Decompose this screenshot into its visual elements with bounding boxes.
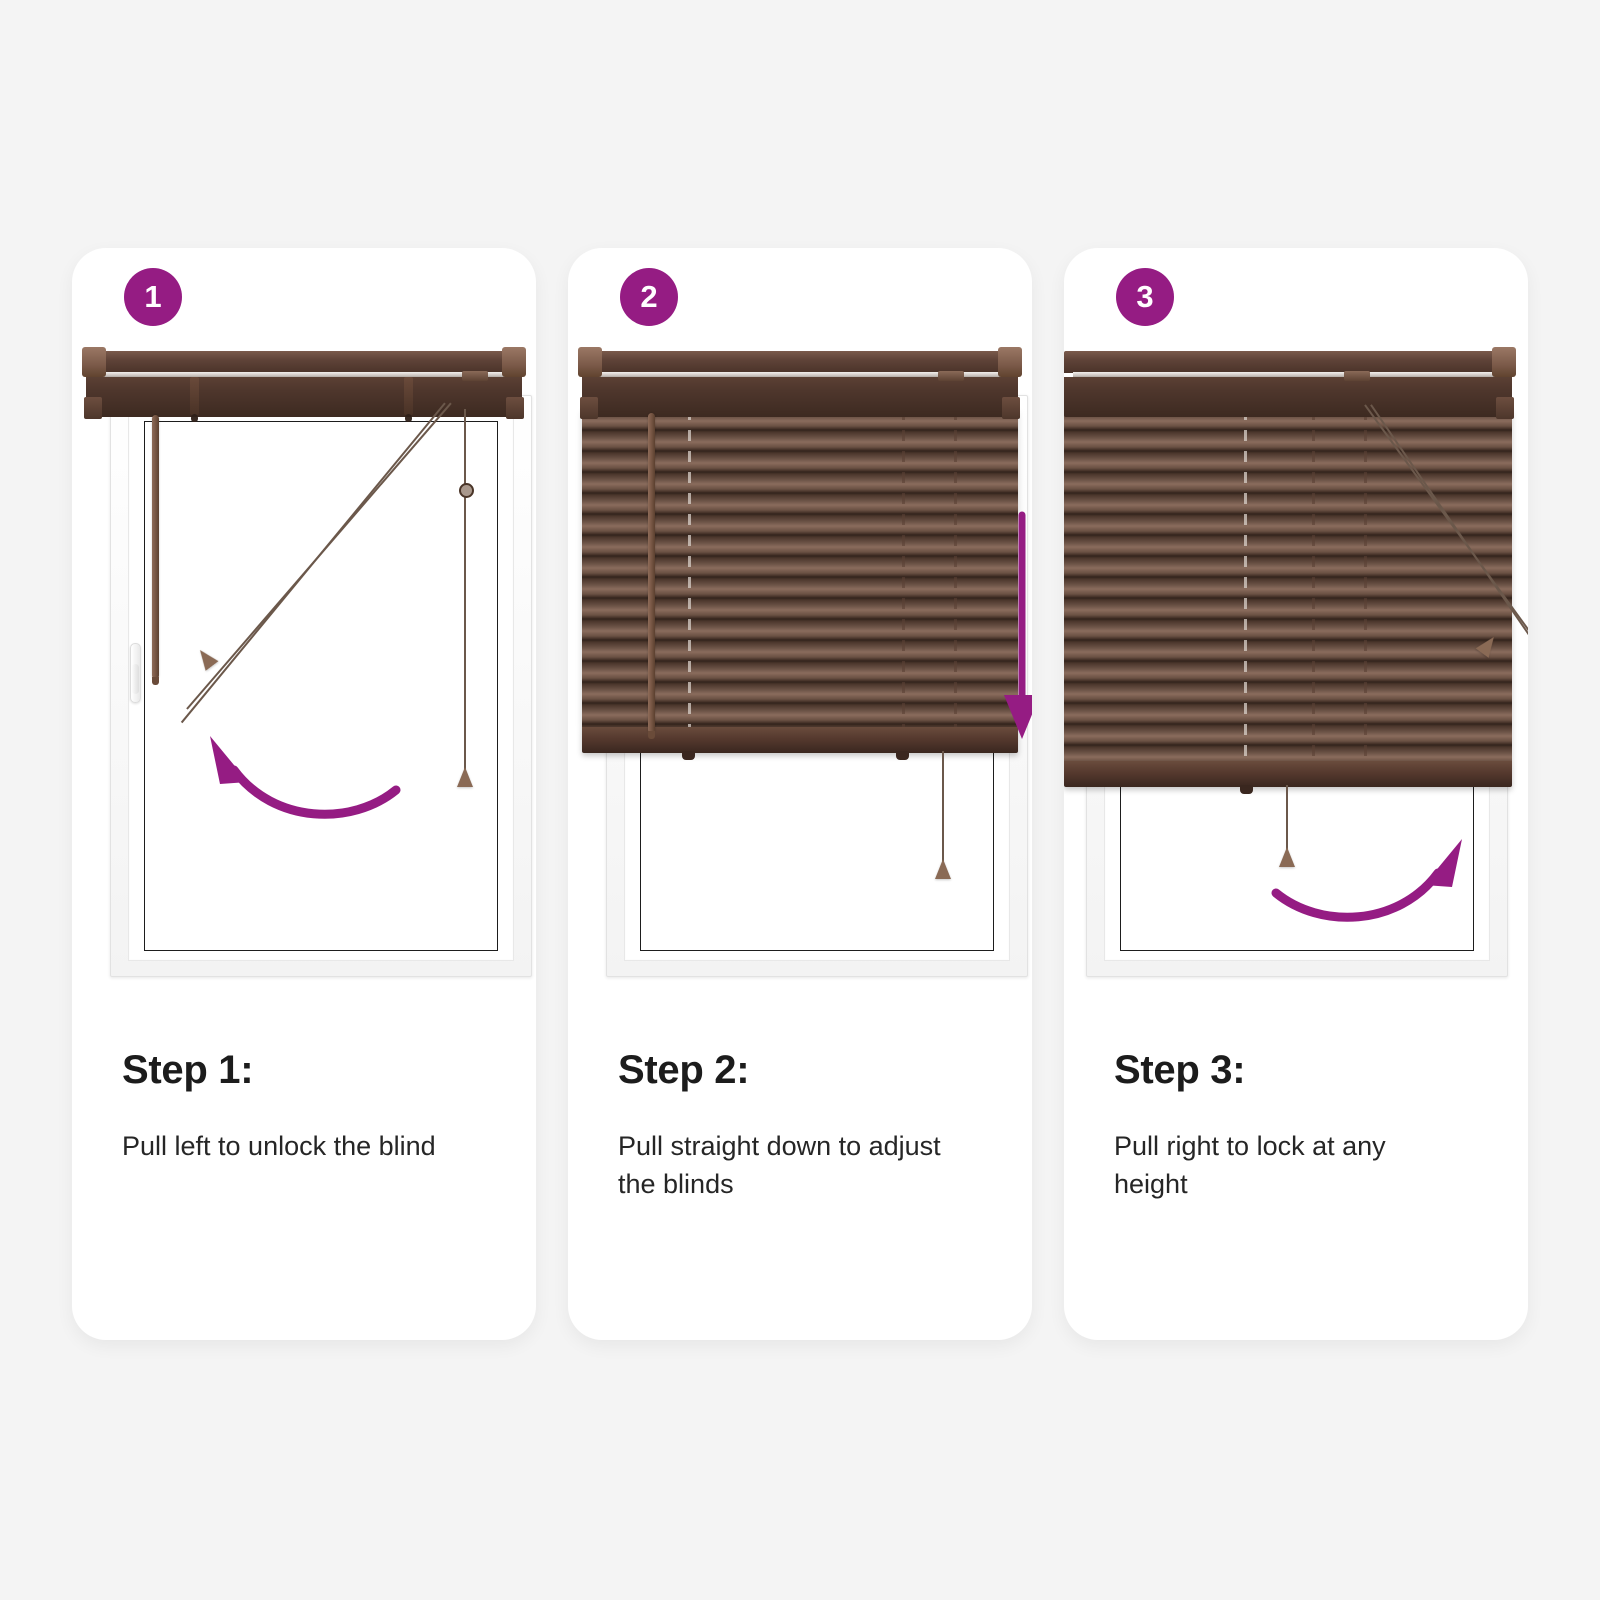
headrail-body bbox=[582, 377, 1018, 417]
headrail-end-cap-left-icon bbox=[578, 347, 602, 377]
caption-3: Step 3: Pull right to lock at any height bbox=[1114, 1048, 1488, 1204]
step-description-1: Pull left to unlock the blind bbox=[122, 1127, 452, 1165]
step-title-3: Step 3: bbox=[1114, 1048, 1488, 1093]
headrail-top bbox=[86, 351, 522, 373]
ladder-hanger bbox=[190, 377, 199, 415]
curved-arrow-left-icon bbox=[182, 698, 412, 828]
headrail-bracket-left-icon bbox=[84, 397, 102, 419]
step-title-2: Step 2: bbox=[618, 1048, 992, 1093]
headrail-bracket-right-icon bbox=[506, 397, 524, 419]
ladder-tape bbox=[1312, 409, 1315, 761]
step-badge-1: 1 bbox=[124, 268, 182, 326]
headrail-bracket-right-icon bbox=[1002, 397, 1020, 419]
bottom-rail-nub bbox=[1240, 785, 1253, 794]
curved-arrow-right-icon bbox=[1260, 801, 1490, 931]
ladder-tape bbox=[1364, 409, 1367, 761]
blind-slats-3 bbox=[1064, 409, 1512, 761]
headrail-end-cap-right-icon bbox=[502, 347, 526, 377]
bottom-rail-nub bbox=[682, 751, 695, 760]
step-badge-2: 2 bbox=[620, 268, 678, 326]
step-badge-3: 3 bbox=[1116, 268, 1174, 326]
headrail-top bbox=[582, 351, 1018, 373]
cord-tassel-right-1[interactable] bbox=[457, 767, 473, 787]
step-card-3: 3 bbox=[1064, 248, 1528, 1340]
step-description-3: Pull right to lock at any height bbox=[1114, 1127, 1444, 1204]
illustration-3 bbox=[1064, 343, 1528, 1015]
caption-1: Step 1: Pull left to unlock the blind bbox=[122, 1048, 496, 1165]
headrail-body bbox=[1064, 377, 1512, 417]
step-card-2: 2 bbox=[568, 248, 1032, 1340]
cord-lock-1 bbox=[459, 483, 474, 498]
step-description-2: Pull straight down to adjust the blinds bbox=[618, 1127, 948, 1204]
step-card-1: 1 bbox=[72, 248, 536, 1340]
illustration-1 bbox=[72, 343, 536, 1015]
straight-arrow-down-icon bbox=[998, 511, 1032, 751]
headrail-bracket-right-icon bbox=[1496, 397, 1514, 419]
headrail-top bbox=[1064, 351, 1512, 373]
headrail-body bbox=[86, 377, 522, 417]
lift-cord-right-lower-1[interactable] bbox=[464, 495, 466, 775]
headrail-end-cap-left-icon bbox=[82, 347, 106, 377]
steps-board: 1 bbox=[0, 0, 1600, 1600]
ladder-tape bbox=[954, 409, 957, 727]
cord-lock-clip-icon bbox=[938, 371, 964, 381]
ladder-tape bbox=[902, 409, 905, 727]
step-title-1: Step 1: bbox=[122, 1048, 496, 1093]
window-handle-1 bbox=[130, 643, 141, 703]
ladder-tape bbox=[688, 409, 691, 727]
headrail-bracket-left-icon bbox=[580, 397, 598, 419]
blind-headrail-1 bbox=[86, 351, 522, 417]
blind-headrail-2 bbox=[582, 351, 1018, 417]
window-glass-1 bbox=[144, 421, 498, 951]
blind-headrail-3 bbox=[1064, 351, 1512, 417]
headrail-end-cap-right-icon bbox=[1492, 347, 1516, 377]
ladder-tape bbox=[1244, 409, 1247, 761]
headrail-end-cap-right-icon bbox=[998, 347, 1022, 377]
illustration-2 bbox=[568, 343, 1032, 1015]
ladder-hanger bbox=[404, 377, 413, 415]
cord-lock-clip-icon bbox=[1344, 371, 1370, 381]
cord-tassel-2[interactable] bbox=[935, 859, 951, 879]
blind-bottom-rail-3 bbox=[1064, 761, 1512, 787]
caption-2: Step 2: Pull straight down to adjust the… bbox=[618, 1048, 992, 1204]
lift-cord-2[interactable] bbox=[942, 751, 944, 867]
cord-lock-clip-icon bbox=[462, 371, 488, 381]
tilt-wand-1[interactable] bbox=[152, 415, 159, 679]
bottom-rail-nub bbox=[896, 751, 909, 760]
tilt-wand-2[interactable] bbox=[648, 413, 655, 733]
